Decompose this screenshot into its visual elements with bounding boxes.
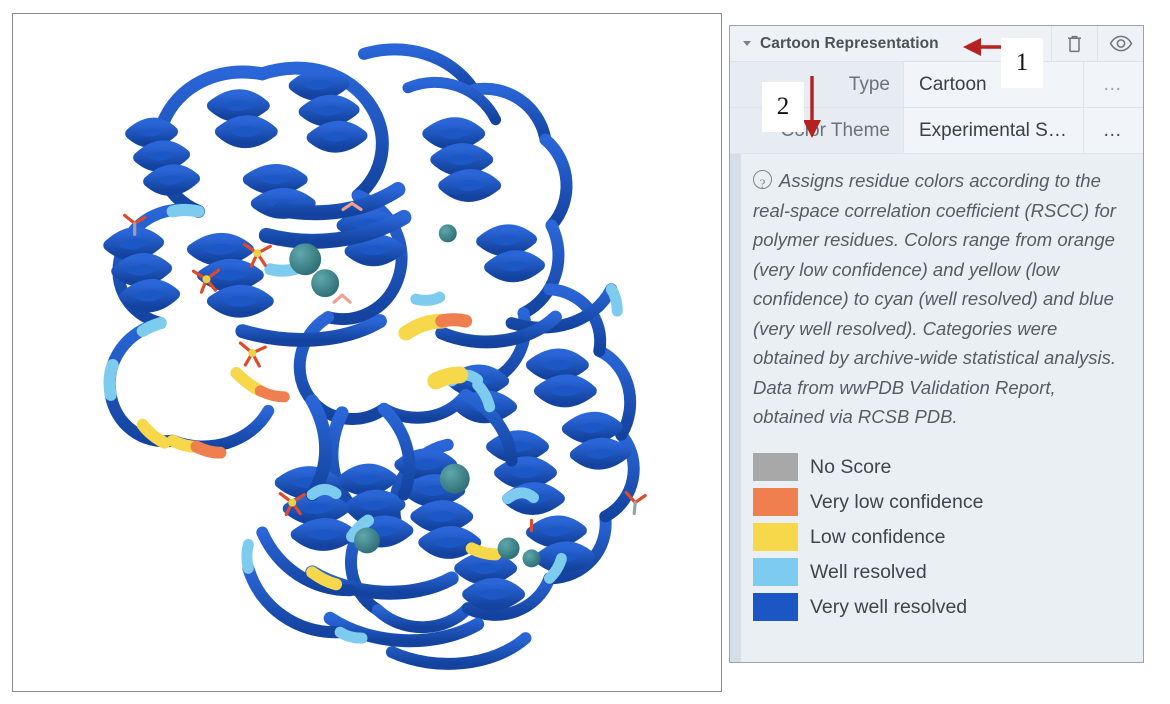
annotation-number: 1 [1016, 49, 1029, 77]
legend-label: Low confidence [810, 526, 946, 549]
legend-swatch-well-resolved [753, 558, 798, 586]
annotation-marker-2: 2 [762, 82, 804, 132]
legend-item: Low confidence [753, 520, 1143, 555]
panel-header[interactable]: Cartoon Representation [730, 26, 1143, 62]
row-value-type[interactable]: Cartoon [903, 62, 1083, 107]
eye-icon[interactable] [1097, 26, 1143, 61]
theme-description: ?Assigns residue colors according to the… [741, 154, 1143, 442]
legend-item: Very low confidence [753, 485, 1143, 520]
molecular-structure-viewer[interactable] [12, 13, 722, 692]
legend-swatch-no-score [753, 453, 798, 481]
legend-label: Well resolved [810, 561, 927, 584]
legend-item: Very well resolved [753, 590, 1143, 625]
help-circle-icon[interactable]: ? [753, 170, 772, 189]
legend-swatch-very-low-confidence [753, 488, 798, 516]
trash-icon[interactable] [1051, 26, 1097, 61]
legend-label: Very low confidence [810, 491, 983, 514]
legend-item: Well resolved [753, 555, 1143, 590]
legend-label: No Score [810, 456, 891, 479]
legend-swatch-low-confidence [753, 523, 798, 551]
row-value-color-theme[interactable]: Experimental S… [903, 108, 1083, 153]
row-menu-type[interactable]: … [1083, 62, 1143, 107]
page-title: Cartoon Representation [760, 35, 939, 53]
legend-label: Very well resolved [810, 596, 967, 619]
chevron-down-icon[interactable] [734, 41, 760, 46]
annotation-number: 2 [777, 93, 790, 121]
annotation-marker-1: 1 [1001, 38, 1043, 88]
legend-item: No Score [753, 450, 1143, 485]
color-legend: No Score Very low confidence Low confide… [741, 450, 1143, 625]
protein-cartoon-render [13, 14, 721, 691]
theme-description-text: Assigns residue colors according to the … [753, 170, 1116, 427]
row-menu-color-theme[interactable]: … [1083, 108, 1143, 153]
legend-swatch-very-well-resolved [753, 593, 798, 621]
